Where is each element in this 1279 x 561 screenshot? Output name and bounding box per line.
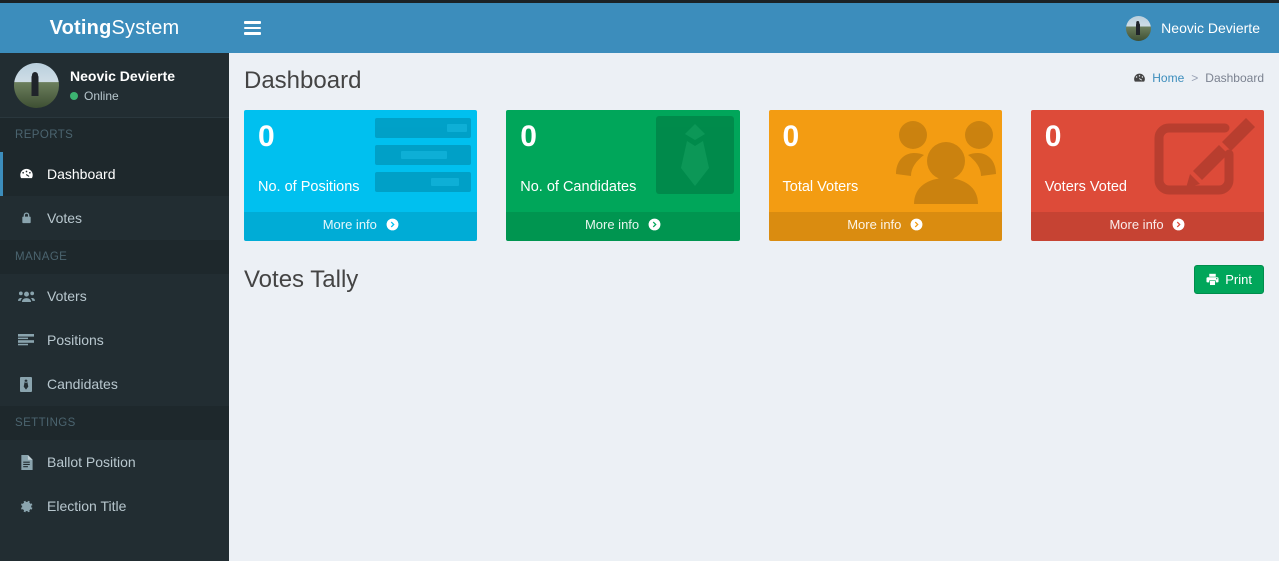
top-navbar: Neovic Devierte: [229, 3, 1279, 53]
info-box-body: 0 No. of Candidates: [506, 110, 739, 212]
printer-icon: [1206, 273, 1219, 286]
avatar-figure: [31, 74, 38, 96]
users-icon: [16, 289, 36, 303]
arrow-circle-right-icon: [910, 219, 923, 234]
sidebar-item-label: Ballot Position: [47, 454, 136, 470]
list-icon: [16, 334, 36, 347]
avatar: [14, 63, 59, 108]
edit-square-icon: [1153, 116, 1258, 201]
info-box-positions: 0 No. of Positions More info: [244, 110, 477, 241]
file-icon: [16, 455, 36, 470]
sidebar-item-label: Positions: [47, 332, 104, 348]
breadcrumb-home-label: Home: [1152, 71, 1184, 85]
info-box-more-link[interactable]: More info: [244, 212, 477, 241]
sidebar: VotingSystem Neovic Devierte Online REPO…: [0, 3, 229, 561]
info-box-voters-voted: 0 Voters Voted More info: [1031, 110, 1264, 241]
votes-tally-header: Votes Tally Print: [229, 241, 1279, 294]
info-box-more-label: More info: [323, 217, 377, 232]
sidebar-section-settings: SETTINGS: [0, 406, 229, 440]
info-box-more-label: More info: [1109, 217, 1163, 232]
sidebar-section-reports: REPORTS: [0, 118, 229, 152]
sidebar-item-label: Voters: [47, 288, 87, 304]
sidebar-user-status-label: Online: [84, 89, 119, 103]
info-box-more-link[interactable]: More info: [1031, 212, 1264, 241]
users-icon: [896, 116, 996, 209]
print-button[interactable]: Print: [1194, 265, 1264, 294]
content-area: Dashboard Home > Dashboard 0 No. of Posi…: [229, 53, 1279, 561]
sidebar-user-name: Neovic Devierte: [70, 67, 175, 85]
sidebar-item-election-title[interactable]: Election Title: [0, 484, 229, 528]
breadcrumb-home[interactable]: Home: [1133, 71, 1184, 85]
sidebar-item-voters[interactable]: Voters: [0, 274, 229, 318]
breadcrumb-current: Dashboard: [1205, 71, 1264, 85]
votes-tally-title: Votes Tally: [244, 266, 358, 294]
page-title: Dashboard: [244, 68, 1264, 94]
sidebar-item-ballot-position[interactable]: Ballot Position: [0, 440, 229, 484]
info-boxes: 0 No. of Positions More info 0 No. of C: [229, 110, 1279, 241]
app-root: VotingSystem Neovic Devierte Online REPO…: [0, 0, 1279, 561]
avatar: [1126, 16, 1151, 41]
info-box-body: 0 No. of Positions: [244, 110, 477, 212]
sidebar-item-label: Candidates: [47, 376, 118, 392]
breadcrumb-separator: >: [1191, 71, 1198, 85]
brand-logo[interactable]: VotingSystem: [0, 3, 229, 53]
list-bars-icon: [375, 116, 471, 199]
online-status-dot: [70, 92, 78, 100]
sidebar-item-label: Votes: [47, 210, 82, 226]
avatar-figure: [1136, 23, 1140, 35]
dashboard-icon: [16, 167, 36, 182]
sidebar-item-label: Dashboard: [47, 166, 116, 182]
navbar-user-name: Neovic Devierte: [1161, 20, 1260, 36]
gear-icon: [16, 499, 36, 514]
info-box-body: 0 Total Voters: [769, 110, 1002, 212]
content-header: Dashboard Home > Dashboard: [229, 53, 1279, 109]
info-box-more-label: More info: [847, 217, 901, 232]
arrow-circle-right-icon: [1172, 219, 1185, 234]
sidebar-item-votes[interactable]: Votes: [0, 196, 229, 240]
brand-logo-light: System: [112, 17, 180, 40]
tie-icon: [16, 377, 36, 392]
arrow-circle-right-icon: [648, 219, 661, 234]
sidebar-item-dashboard[interactable]: Dashboard: [0, 152, 229, 196]
info-box-total-voters: 0 Total Voters More info: [769, 110, 1002, 241]
sidebar-item-candidates[interactable]: Candidates: [0, 362, 229, 406]
navbar-user-menu[interactable]: Neovic Devierte: [1126, 16, 1264, 41]
brand-logo-bold: Voting: [50, 17, 112, 40]
info-box-body: 0 Voters Voted: [1031, 110, 1264, 212]
info-box-more-label: More info: [585, 217, 639, 232]
print-button-label: Print: [1225, 272, 1252, 287]
arrow-circle-right-icon: [386, 219, 399, 234]
sidebar-item-positions[interactable]: Positions: [0, 318, 229, 362]
lock-icon: [16, 211, 36, 226]
sidebar-item-label: Election Title: [47, 498, 126, 514]
info-box-candidates: 0 No. of Candidates More info: [506, 110, 739, 241]
breadcrumb: Home > Dashboard: [1133, 71, 1264, 85]
dashboard-icon: [1133, 72, 1146, 85]
sidebar-user-status: Online: [70, 89, 175, 103]
tie-icon: [656, 116, 734, 199]
sidebar-user-panel[interactable]: Neovic Devierte Online: [0, 53, 229, 118]
info-box-more-link[interactable]: More info: [769, 212, 1002, 241]
hamburger-icon[interactable]: [229, 3, 275, 53]
info-box-more-link[interactable]: More info: [506, 212, 739, 241]
sidebar-section-manage: MANAGE: [0, 240, 229, 274]
